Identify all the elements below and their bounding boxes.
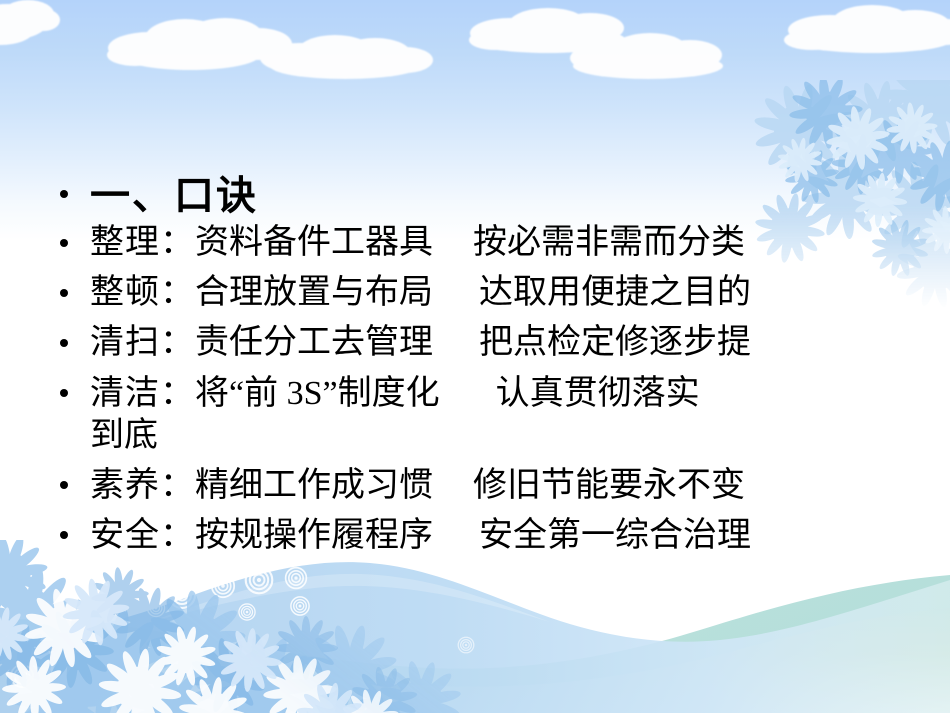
right-phrase: 按必需非需而分类 [473,224,745,261]
list-item-anquan: 安全：按规操作履程序安全第一综合治理 [52,516,932,556]
right-phrase: 达取用便捷之目的 [479,274,751,311]
list-item-suyang: 素养：精细工作成习惯修旧节能要永不变 [52,466,932,506]
left-phrase: 将“前 3S”制度化 [195,375,440,412]
bullet-dot-icon [60,190,68,198]
wrapped-phrase: 到底 [90,416,932,456]
left-phrase: 责任分工去管理 [195,324,433,361]
bullet-dot-icon [60,239,68,247]
list-item-qingsao: 清扫：责任分工去管理把点检定修逐步提 [52,323,932,363]
term-label: 整顿： [90,274,195,311]
slide-canvas: 一、口诀 整理：资料备件工器具按必需非需而分类 整顿：合理放置与布局达取用便捷之… [0,0,950,713]
right-phrase: 修旧节能要永不变 [473,467,745,504]
term-label: 清扫： [90,324,195,361]
slide-text-content: 一、口诀 整理：资料备件工器具按必需非需而分类 整顿：合理放置与布局达取用便捷之… [0,0,950,713]
bullet-dot-icon [60,289,68,297]
left-phrase: 资料备件工器具 [195,224,433,261]
left-phrase: 按规操作履程序 [195,517,433,554]
left-phrase: 合理放置与布局 [195,274,433,311]
right-phrase: 把点检定修逐步提 [479,324,751,361]
bullet-dot-icon [60,389,68,397]
term-label: 安全： [90,517,195,554]
list-item-zhengdun: 整顿：合理放置与布局达取用便捷之目的 [52,273,932,313]
left-phrase: 精细工作成习惯 [195,467,433,504]
right-phrase: 安全第一综合治理 [479,517,751,554]
bullet-dot-icon [60,339,68,347]
bullet-dot-icon [60,481,68,489]
term-label: 清洁： [90,375,195,412]
bullet-list: 一、口诀 整理：资料备件工器具按必需非需而分类 整顿：合理放置与布局达取用便捷之… [52,172,932,566]
heading-text: 一、口诀 [90,173,258,218]
term-label: 整理： [90,224,195,261]
right-phrase: 认真贯彻落实 [496,375,700,412]
list-item-heading: 一、口诀 [52,172,932,219]
list-item-qingjie: 清洁：将“前 3S”制度化认真贯彻落实到底 [52,374,932,456]
term-label: 素养： [90,467,195,504]
bullet-dot-icon [60,531,68,539]
list-item-zhengli: 整理：资料备件工器具按必需非需而分类 [52,223,932,263]
